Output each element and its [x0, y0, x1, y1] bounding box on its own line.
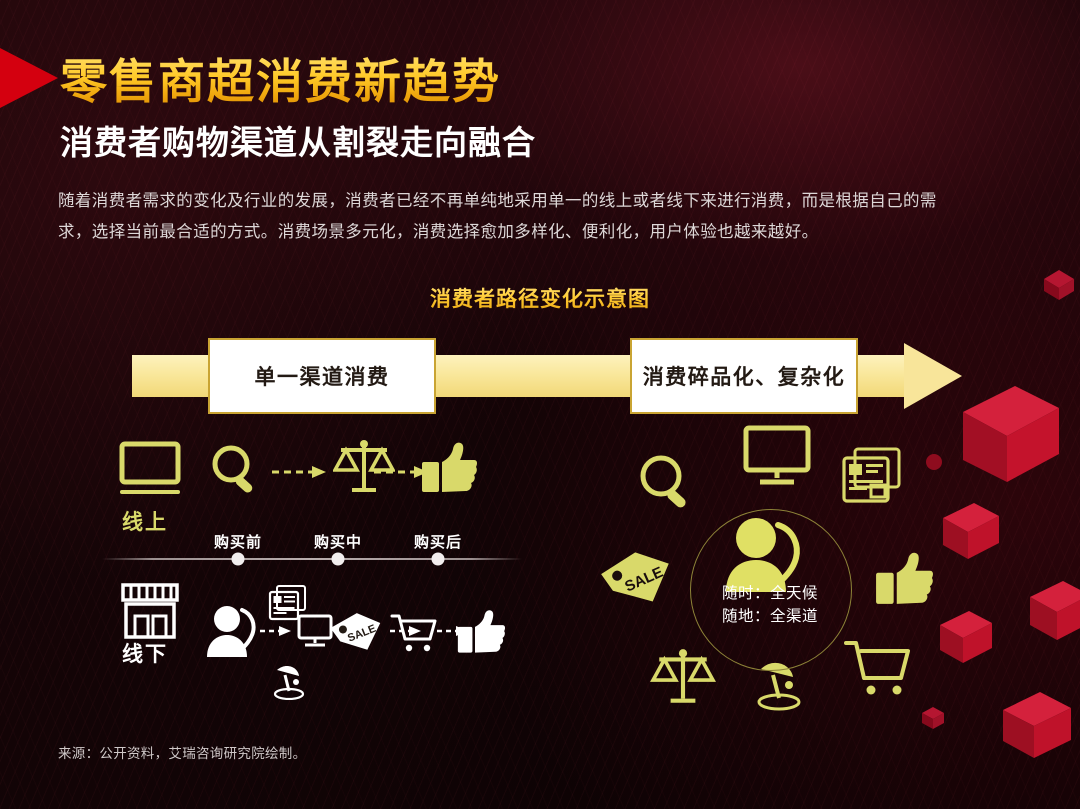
progression-banner: 单一渠道消费 消费碎品化、复杂化 [132, 355, 962, 397]
red-cube-decoration [920, 705, 946, 731]
stage-label-0: 购买前 [214, 531, 262, 552]
newspaper-icon [841, 446, 903, 506]
timeline-dot [432, 553, 445, 566]
stage-label-2: 购买后 [414, 531, 462, 552]
timeline-dot [232, 553, 245, 566]
thumbs-up-icon [420, 440, 478, 496]
cart-icon [390, 612, 438, 654]
magnifier-icon [208, 442, 264, 498]
diagram-title: 消费者路径变化示意图 [0, 283, 1080, 313]
store-icon [120, 582, 180, 640]
monitor-icon [118, 440, 182, 498]
red-cube-decoration [938, 500, 1004, 562]
page-title: 零售商超消费新趋势 [60, 52, 501, 112]
magnifier-icon [636, 452, 698, 514]
banner-stage-right-label: 消费碎品化、复杂化 [643, 361, 846, 391]
purchase-timeline [102, 558, 522, 560]
flow-arrow-icon [272, 465, 328, 479]
monitor-icon [296, 614, 334, 648]
scales-icon [650, 645, 716, 709]
offline-row-label: 线下 [122, 638, 168, 668]
omnichannel-line-1: 随时：全天候 [690, 582, 850, 605]
red-cube-decoration [1025, 578, 1080, 644]
slide-canvas: 零售商超消费新趋势 消费者购物渠道从割裂走向融合 随着消费者需求的变化及行业的发… [0, 0, 1080, 809]
red-cube-decoration [955, 382, 1067, 486]
source-note: 来源：公开资料，艾瑞咨询研究院绘制。 [58, 742, 306, 762]
thumbs-up-icon [455, 608, 507, 656]
red-cube-decoration [924, 452, 944, 472]
online-row-label: 线上 [122, 506, 168, 536]
banner-stage-right: 消费碎品化、复杂化 [630, 338, 858, 414]
satellite-dish-icon [268, 660, 310, 700]
flow-arrow-icon [260, 625, 292, 637]
monitor-icon [742, 425, 812, 487]
person-icon [205, 604, 261, 660]
thumbs-up-icon [874, 550, 934, 608]
cart-icon [843, 638, 913, 700]
omnichannel-text: 随时：全天候 随地：全渠道 [690, 582, 850, 628]
banner-stage-left-label: 单一渠道消费 [255, 361, 390, 391]
red-cube-decoration [998, 688, 1076, 762]
red-cube-decoration [936, 608, 996, 666]
sale-tag-icon: SALE [330, 608, 386, 656]
sale-tag-icon: SALE [600, 545, 678, 611]
banner-stage-left: 单一渠道消费 [208, 338, 436, 414]
intro-paragraph: 随着消费者需求的变化及行业的发展，消费者已经不再单纯地采用单一的线上或者线下来进… [58, 186, 938, 248]
omnichannel-line-2: 随地：全渠道 [690, 605, 850, 628]
accent-triangle-icon [0, 48, 58, 108]
banner-arrowhead-icon [904, 343, 962, 409]
stage-label-1: 购买中 [314, 531, 362, 552]
page-subtitle: 消费者购物渠道从割裂走向融合 [60, 122, 536, 164]
timeline-dot [332, 553, 345, 566]
